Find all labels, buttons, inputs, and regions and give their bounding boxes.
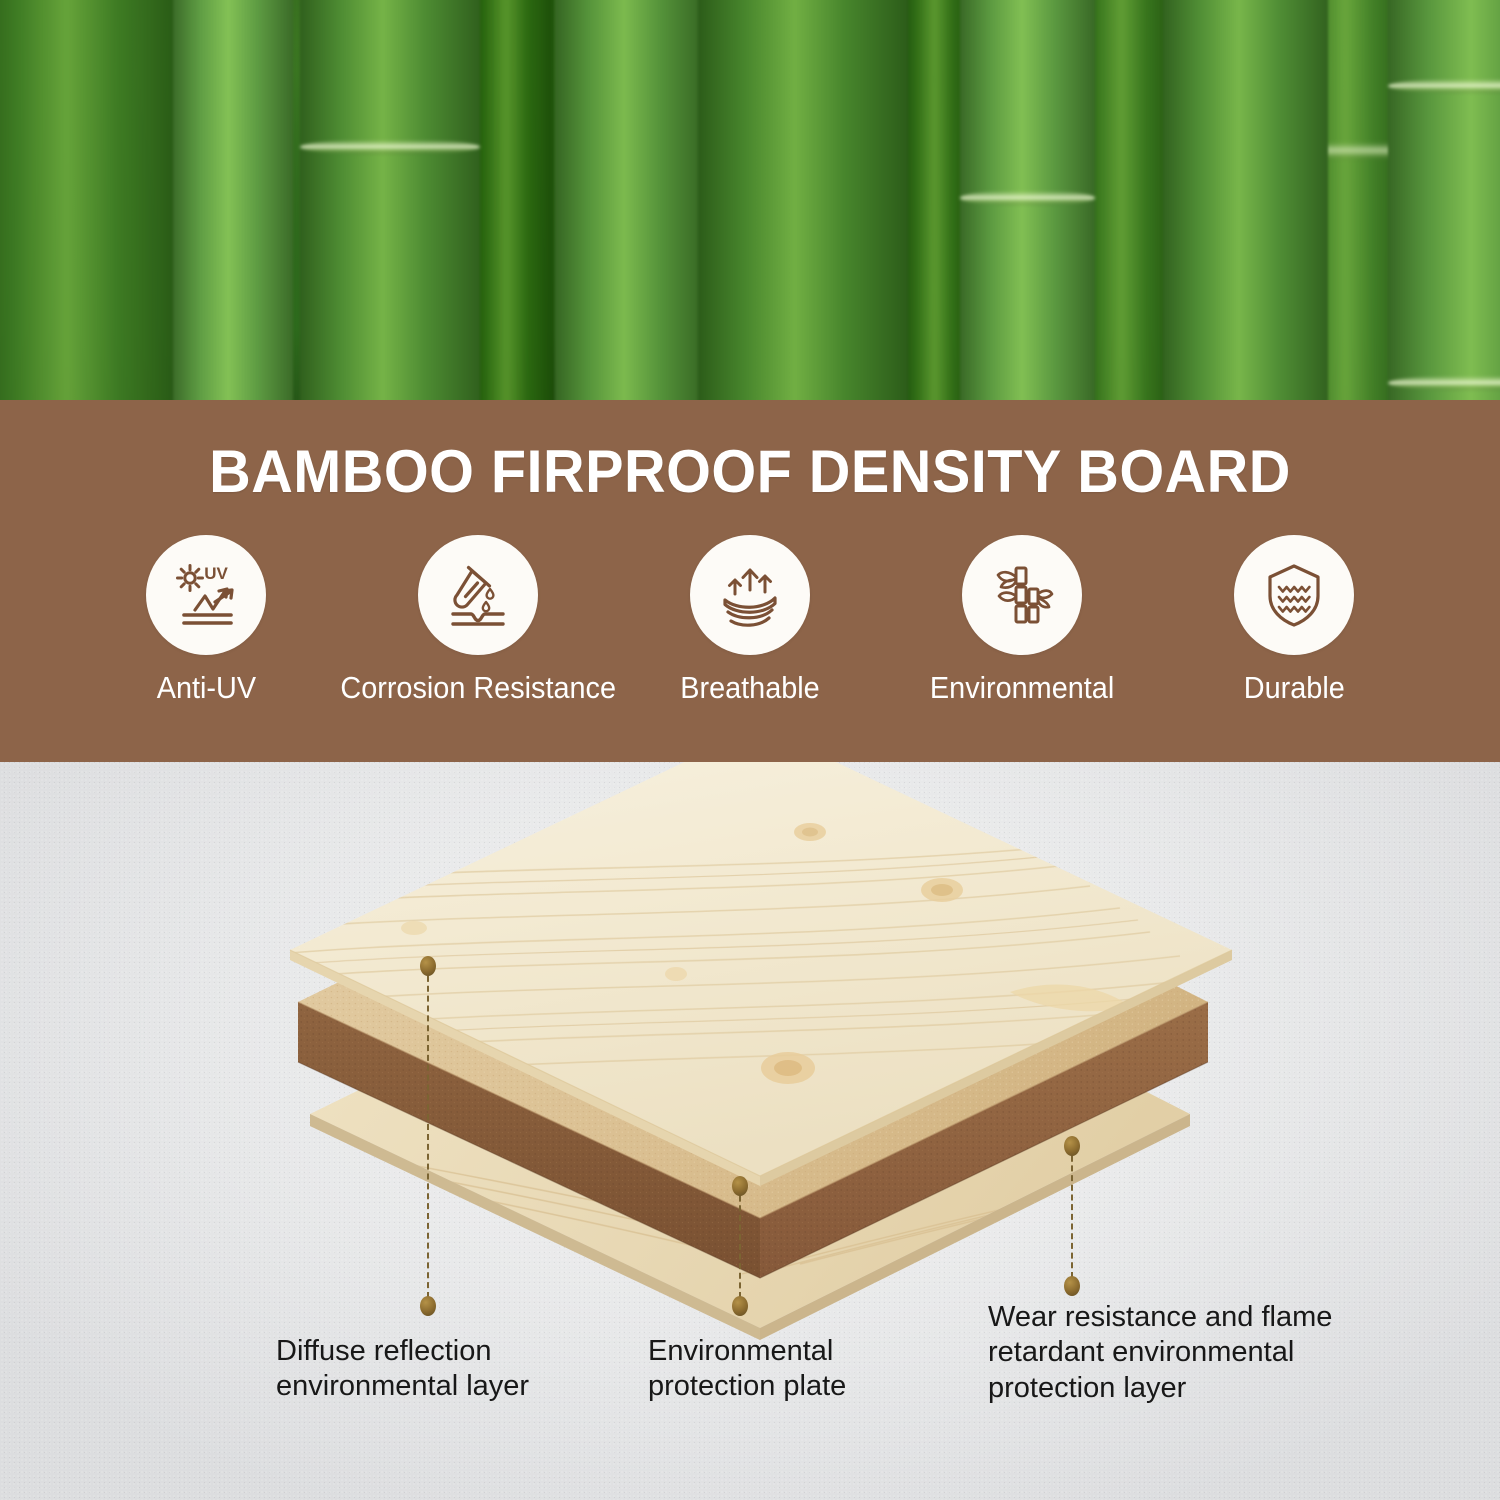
svg-text:UV: UV (204, 564, 228, 583)
callout-label: Wear resistance and flameretardant envir… (988, 1300, 1332, 1406)
callout-end-dot (1064, 1276, 1080, 1296)
bamboo-culm (300, 0, 480, 400)
bamboo-culm (555, 0, 705, 400)
bamboo-stalks-photo (0, 0, 1500, 400)
callout-dashed-line (739, 1186, 741, 1298)
callout-anchor-dot (732, 1176, 748, 1196)
uv-sun-reflection-icon: UV (169, 558, 243, 632)
feature-icon-badge (690, 535, 810, 655)
bamboo-culm (1163, 0, 1328, 400)
callout-end-dot (420, 1296, 436, 1316)
bamboo-plant-icon (985, 558, 1059, 632)
feature-item-breathable: Breathable (614, 535, 886, 705)
callout-end-dot (732, 1296, 748, 1316)
product-infographic: BAMBOO FIRPROOF DENSITY BOARD UV (0, 0, 1500, 1500)
callout-label-line: Diffuse reflection (276, 1334, 529, 1369)
exploded-board-diagram: Diffuse reflectionenvironmental layerEnv… (0, 762, 1500, 1500)
feature-label: Environmental (930, 672, 1114, 705)
feature-label: Corrosion Resistance (340, 672, 616, 705)
feature-item-environmental: Environmental (886, 535, 1158, 705)
callout-dashed-line (427, 966, 429, 1298)
page-title: BAMBOO FIRPROOF DENSITY BOARD (30, 442, 1470, 502)
shield-waves-icon (1257, 558, 1331, 632)
feature-item-anti-uv: UV Anti-UV (70, 535, 342, 705)
up-arrows-layers-icon (713, 558, 787, 632)
callout-anchor-dot (1064, 1136, 1080, 1156)
bamboo-node-ring (960, 191, 1095, 205)
callout-label-line: protection layer (988, 1371, 1332, 1406)
callout-label-line: Environmental (648, 1334, 846, 1369)
callout-label-line: retardant environmental (988, 1335, 1332, 1370)
callout-label-line: protection plate (648, 1369, 846, 1404)
feature-label: Durable (1244, 672, 1345, 705)
callout-anchor-dot (420, 956, 436, 976)
feature-icon-badge (1234, 535, 1354, 655)
callout-label-line: environmental layer (276, 1369, 529, 1404)
feature-icon-badge (962, 535, 1082, 655)
feature-label: Breathable (680, 672, 819, 705)
feature-item-durable: Durable (1158, 535, 1430, 705)
bamboo-node-ring (1388, 376, 1500, 390)
feature-icon-badge: UV (146, 535, 266, 655)
feature-banner: BAMBOO FIRPROOF DENSITY BOARD UV (0, 400, 1500, 762)
bamboo-node-ring (1388, 79, 1500, 93)
callout-label-line: Wear resistance and flame (988, 1300, 1332, 1335)
feature-icon-badge (418, 535, 538, 655)
bamboo-culm (173, 0, 293, 400)
callout-dashed-line (1071, 1146, 1073, 1278)
callout-label: Environmentalprotection plate (648, 1334, 846, 1405)
feature-list: UV Anti-UV (70, 535, 1430, 735)
feature-item-corrosion-resistance: Corrosion Resistance (342, 535, 614, 705)
callout-label: Diffuse reflectionenvironmental layer (276, 1334, 529, 1405)
bamboo-culm (960, 0, 1095, 400)
bamboo-culm (1388, 0, 1500, 400)
feature-label: Anti-UV (156, 672, 255, 705)
test-tube-droplet-icon (441, 558, 515, 632)
bamboo-culm (698, 0, 908, 400)
bamboo-node-ring (300, 140, 480, 154)
bamboo-culm (0, 0, 180, 400)
